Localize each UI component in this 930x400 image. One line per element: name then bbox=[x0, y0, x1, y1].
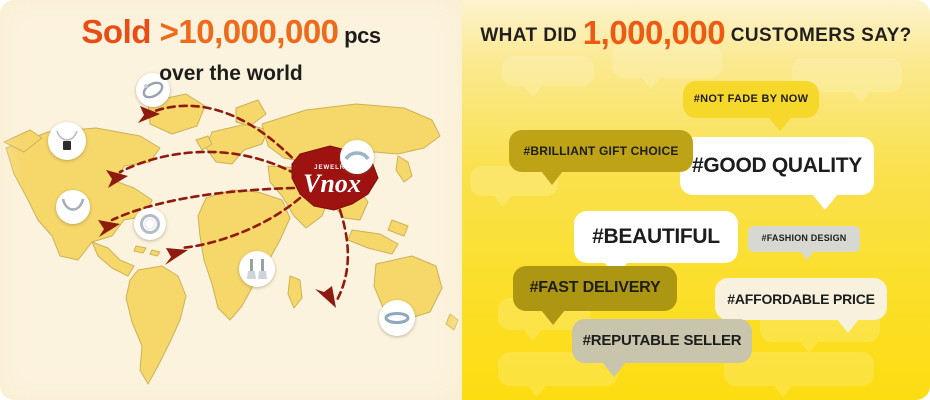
arrowhead-5 bbox=[315, 286, 336, 308]
world-map: JEWELRY Vnox bbox=[0, 70, 462, 400]
title-suffix: CUSTOMERS SAY? bbox=[725, 25, 912, 46]
title-number: 1,000,000 bbox=[583, 14, 725, 51]
bubble-label: #BRILLIANT GIFT CHOICE bbox=[523, 145, 678, 158]
feedback-bubble-not-fade-by-now: #NOT FADE BY NOW bbox=[683, 81, 819, 118]
sold-headline-prefix: Sold bbox=[81, 13, 159, 50]
sold-headline: Sold >10,000,000 pcs bbox=[0, 12, 462, 56]
sold-headline-suffix: pcs bbox=[339, 23, 381, 48]
bubble-label: #FASHION DESIGN bbox=[761, 234, 846, 243]
route-arrow-5 bbox=[336, 210, 348, 302]
feedback-bubble-fast-delivery: #FAST DELIVERY bbox=[513, 266, 677, 311]
feedback-bubble-beautiful: #BEAUTIFUL bbox=[574, 211, 738, 263]
bubble-label: #NOT FADE BY NOW bbox=[694, 94, 809, 106]
feedback-bubble-brilliant-gift-choice: #BRILLIANT GIFT CHOICE bbox=[509, 130, 693, 172]
title-prefix: WHAT DID bbox=[480, 25, 582, 46]
ghost-bubble bbox=[502, 56, 594, 86]
bangle-badge bbox=[379, 300, 415, 336]
bubble-label: #AFFORDABLE PRICE bbox=[727, 292, 875, 307]
earrings-badge bbox=[239, 251, 275, 287]
feedback-bubble-reputable-seller: #REPUTABLE SELLER bbox=[572, 319, 752, 363]
feedback-bubble-good-quality: #GOOD QUALITY bbox=[680, 137, 874, 195]
sold-subheadline: over the world bbox=[0, 62, 462, 86]
ring-badge bbox=[134, 208, 166, 240]
pendant-necklace-badge bbox=[48, 122, 86, 160]
right-panel-customer-feedback: WHAT DID 1,000,000 CUSTOMERS SAY? #NOT F… bbox=[462, 0, 930, 400]
arrowhead-4 bbox=[165, 248, 188, 265]
left-panel-world-map: Sold >10,000,000 pcs over the world bbox=[0, 0, 462, 400]
bubble-label: #FAST DELIVERY bbox=[530, 280, 661, 297]
cuff-badge bbox=[340, 140, 374, 174]
bubble-label: #BEAUTIFUL bbox=[592, 226, 720, 248]
sold-headline-number: >10,000,000 bbox=[160, 13, 339, 50]
feedback-bubble-affordable-price: #AFFORDABLE PRICE bbox=[715, 278, 887, 320]
bubble-label: #GOOD QUALITY bbox=[692, 155, 862, 177]
sold-headline-block: Sold >10,000,000 pcs over the world bbox=[0, 12, 462, 86]
chain-necklace-badge bbox=[56, 190, 90, 224]
promo-banner: Sold >10,000,000 pcs over the world bbox=[0, 0, 930, 400]
customers-say-title: WHAT DID 1,000,000 CUSTOMERS SAY? bbox=[462, 14, 930, 52]
world-map-svg: JEWELRY Vnox bbox=[0, 70, 462, 400]
feedback-bubble-fashion-design: #FASHION DESIGN bbox=[748, 226, 860, 252]
bubble-label: #REPUTABLE SELLER bbox=[583, 333, 742, 349]
